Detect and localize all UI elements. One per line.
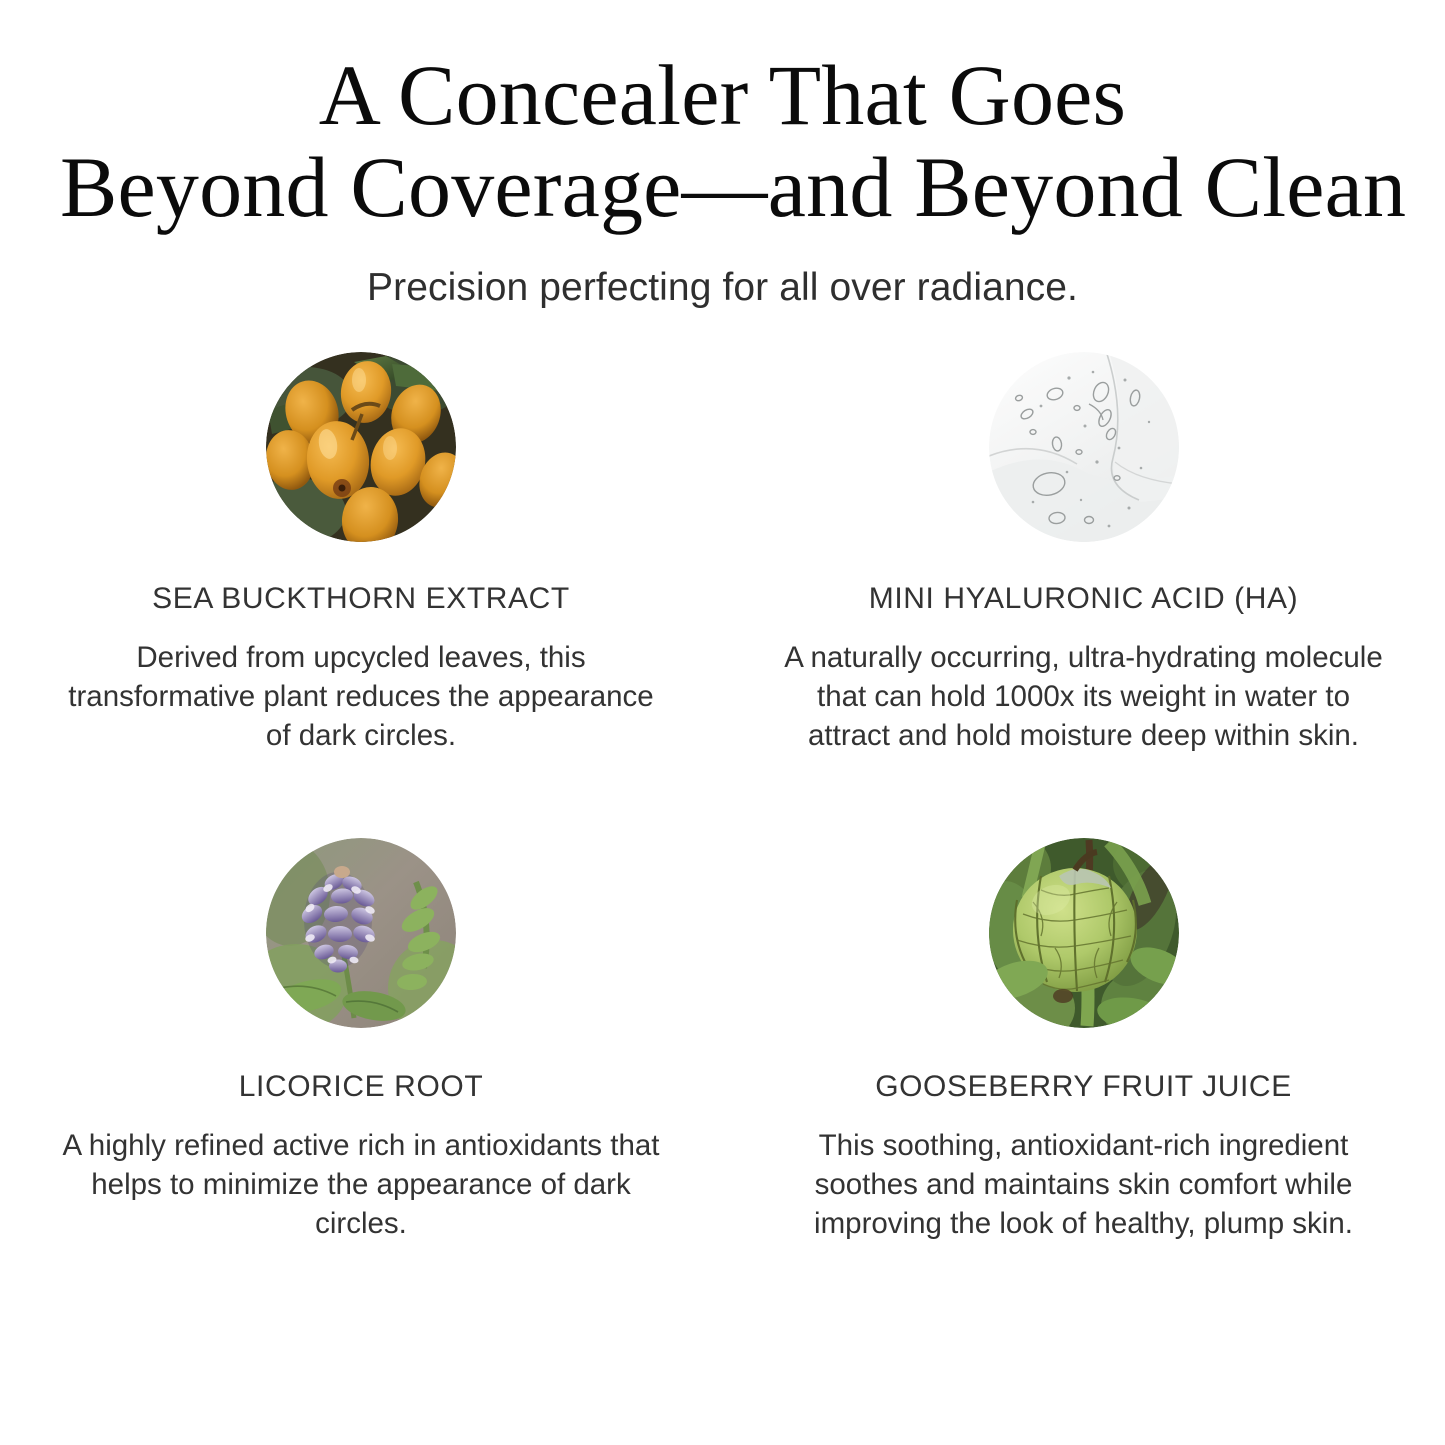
- ingredient-card-gooseberry: GOOSEBERRY FRUIT JUICE This soothing, an…: [722, 838, 1445, 1244]
- ingredient-description: Derived from upcycled leaves, this trans…: [62, 616, 660, 756]
- ingredient-description: A naturally occurring, ultra-hydrating m…: [784, 616, 1383, 756]
- ingredient-title: MINI HYALURONIC ACID (HA): [869, 542, 1298, 616]
- page-title: A Concealer That Goes Beyond Coverage—an…: [0, 52, 1445, 230]
- headline-line-1: A Concealer That Goes: [60, 52, 1385, 138]
- ingredient-card-licorice-root: LICORICE ROOT A highly refined active ri…: [0, 838, 722, 1244]
- ingredient-card-hyaluronic-acid: MINI HYALURONIC ACID (HA) A naturally oc…: [722, 352, 1445, 756]
- licorice-root-flower-photo: [266, 838, 456, 1028]
- ingredient-description: This soothing, antioxidant-rich ingredie…: [784, 1104, 1383, 1244]
- ingredient-title: GOOSEBERRY FRUIT JUICE: [875, 1028, 1292, 1104]
- hyaluronic-acid-gel-texture-photo: [989, 352, 1179, 542]
- page-subtitle: Precision perfecting for all over radian…: [0, 230, 1445, 310]
- sea-buckthorn-berries-photo: [266, 352, 456, 542]
- ingredient-title: LICORICE ROOT: [239, 1028, 484, 1104]
- ingredient-grid: SEA BUCKTHORN EXTRACT Derived from upcyc…: [0, 352, 1445, 1243]
- ingredient-benefits-page: A Concealer That Goes Beyond Coverage—an…: [0, 0, 1445, 1445]
- headline-line-2: Beyond Coverage—and Beyond Clean: [60, 144, 1385, 230]
- page-header: A Concealer That Goes Beyond Coverage—an…: [0, 0, 1445, 310]
- ingredient-title: SEA BUCKTHORN EXTRACT: [152, 542, 570, 616]
- ingredient-card-sea-buckthorn: SEA BUCKTHORN EXTRACT Derived from upcyc…: [0, 352, 722, 756]
- ingredient-description: A highly refined active rich in antioxid…: [62, 1104, 660, 1244]
- gooseberry-husk-fruit-photo: [989, 838, 1179, 1028]
